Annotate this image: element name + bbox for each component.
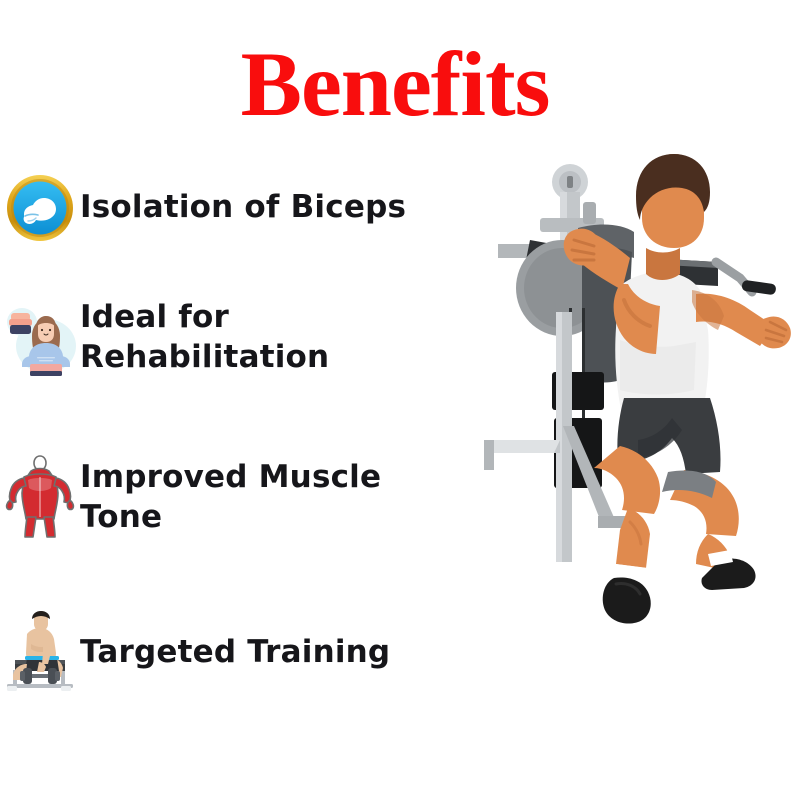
muscle-anatomy-icon — [0, 448, 80, 548]
flexed-bicep-badge-icon — [0, 168, 80, 248]
man-on-pec-deck-machine-illustration — [470, 140, 800, 660]
seated-dumbbell-curl-icon — [0, 608, 80, 698]
rehab-woman-icon — [0, 298, 80, 378]
benefit-item-isolation-of-biceps: Isolation of Biceps — [0, 168, 406, 248]
page-title: Benefits — [0, 38, 790, 130]
benefit-item-targeted-training: Targeted Training — [0, 608, 390, 698]
benefit-item-improved-muscle-tone: Improved Muscle Tone — [0, 448, 460, 548]
benefit-label: Isolation of Biceps — [80, 188, 406, 228]
benefit-label: Ideal for Rehabilitation — [80, 298, 460, 377]
poster-canvas: Benefits — [0, 0, 800, 800]
benefit-item-ideal-for-rehabilitation: Ideal for Rehabilitation — [0, 298, 460, 378]
benefit-label: Improved Muscle Tone — [80, 458, 460, 537]
benefit-label: Targeted Training — [80, 633, 390, 673]
